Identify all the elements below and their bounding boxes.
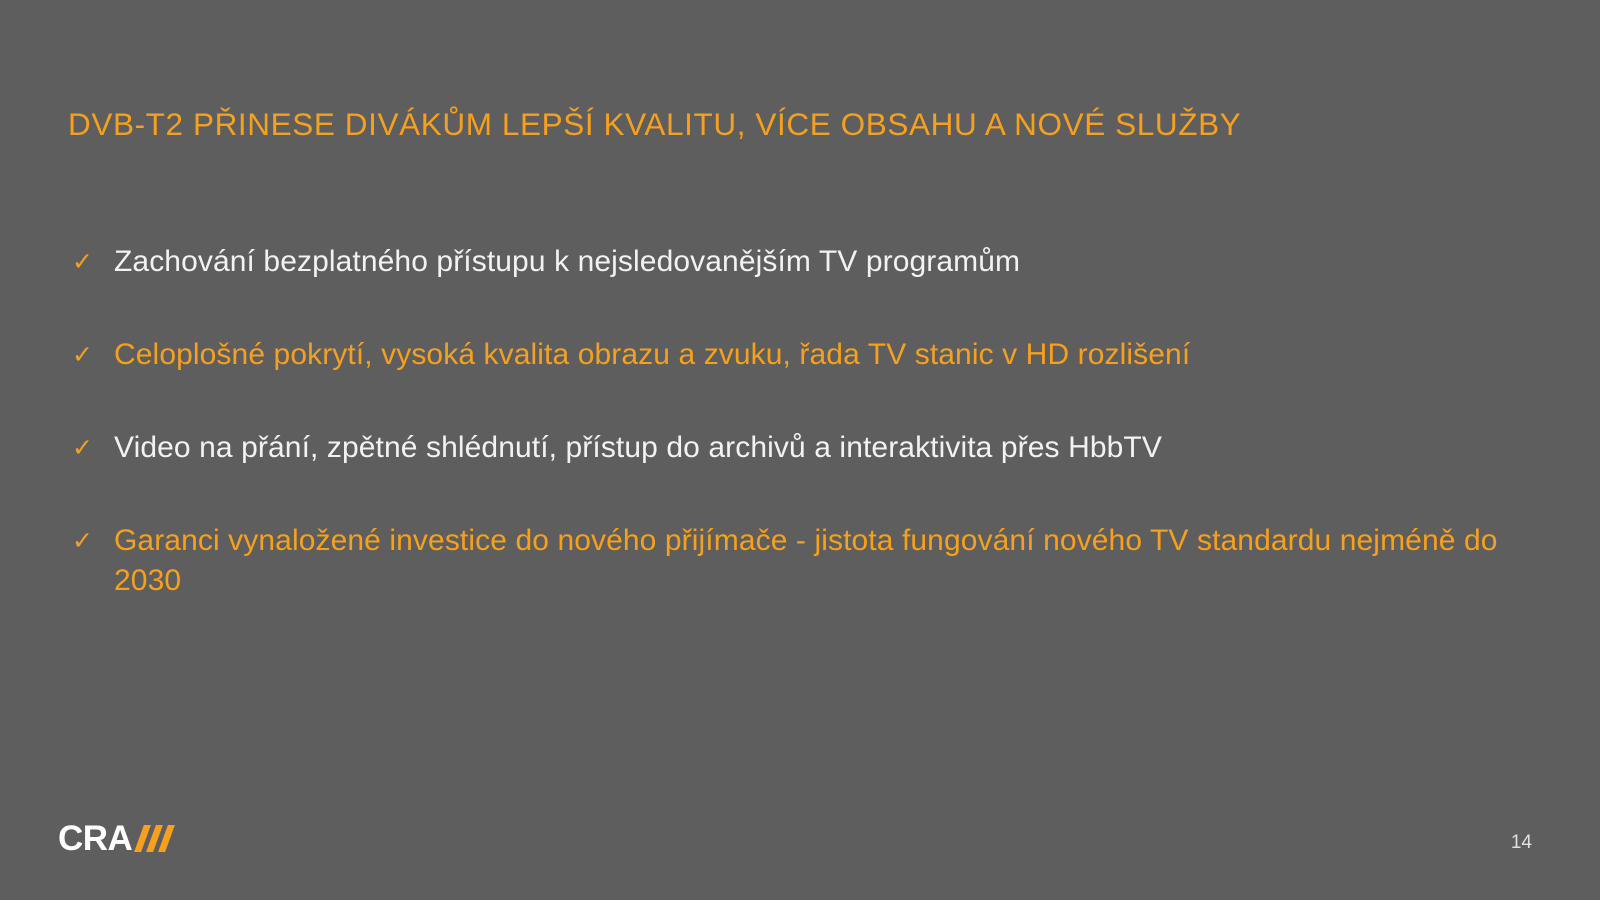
list-item: ✓ Video na přání, zpětné shlédnutí, přís… (68, 428, 1538, 468)
check-icon: ✓ (68, 242, 114, 282)
page-number: 14 (1511, 833, 1532, 852)
list-item-label: Garanci vynaložené investice do nového p… (114, 521, 1538, 601)
check-icon: ✓ (68, 335, 114, 375)
slide-title: DVB-T2 PŘINESE DIVÁKŮM LEPŠÍ KVALITU, VÍ… (68, 105, 1528, 144)
list-item: ✓ Zachování bezplatného přístupu k nejsl… (68, 242, 1538, 282)
cra-logo: CRA (58, 818, 170, 858)
logo-bars-icon (139, 825, 170, 852)
logo-wordmark: CRA (58, 821, 132, 856)
check-icon: ✓ (68, 428, 114, 468)
list-item-label: Celoplošné pokrytí, vysoká kvalita obraz… (114, 335, 1538, 375)
bullet-list: ✓ Zachování bezplatného přístupu k nejsl… (68, 242, 1538, 601)
list-item: ✓ Celoplošné pokrytí, vysoká kvalita obr… (68, 335, 1538, 375)
check-icon: ✓ (68, 521, 114, 561)
list-item-label: Video na přání, zpětné shlédnutí, přístu… (114, 428, 1538, 468)
presentation-slide: DVB-T2 PŘINESE DIVÁKŮM LEPŠÍ KVALITU, VÍ… (0, 0, 1600, 900)
list-item-label: Zachování bezplatného přístupu k nejsled… (114, 242, 1538, 282)
list-item: ✓ Garanci vynaložené investice do nového… (68, 521, 1538, 601)
